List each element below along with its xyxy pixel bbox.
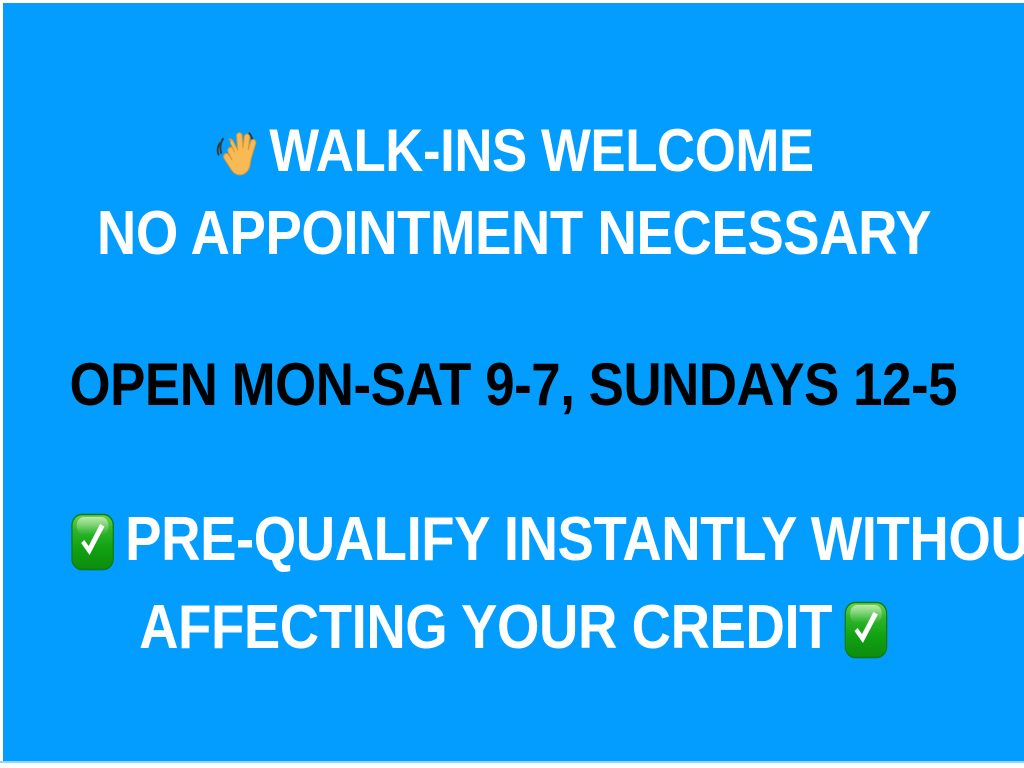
line-prequalify: PRE-QUALIFY INSTANTLY WITHOUT (3, 509, 1024, 573)
line-hours-label: OPEN MON-SAT 9-7, SUNDAYS 12-5 (70, 351, 958, 418)
line-credit-inner: AFFECTING YOUR CREDIT (139, 597, 888, 661)
line-walk-ins-inner: WALK-INS WELCOME (213, 121, 814, 182)
line-walk-ins-label: WALK-INS WELCOME (269, 117, 813, 184)
line-no-appointment-label: NO APPOINTMENT NECESSARY (96, 199, 930, 268)
sign-canvas: WALK-INS WELCOME NO APPOINTMENT NECESSAR… (0, 0, 1024, 768)
line-credit-label: AFFECTING YOUR CREDIT (139, 593, 832, 662)
line-walk-ins: WALK-INS WELCOME (3, 121, 1024, 182)
sign-text-block: WALK-INS WELCOME NO APPOINTMENT NECESSAR… (3, 3, 1024, 761)
line-hours-inner: OPEN MON-SAT 9-7, SUNDAYS 12-5 (70, 355, 958, 415)
line-credit: AFFECTING YOUR CREDIT (3, 597, 1024, 661)
line-no-appointment-inner: NO APPOINTMENT NECESSARY (96, 203, 930, 265)
waving-hand-icon (213, 125, 261, 179)
sign-bottom-edge (0, 761, 1024, 768)
check-mark-button-icon (844, 601, 888, 659)
line-no-appointment: NO APPOINTMENT NECESSARY (3, 203, 1024, 265)
line-prequalify-label: PRE-QUALIFY INSTANTLY WITHOUT (125, 505, 1024, 574)
line-hours: OPEN MON-SAT 9-7, SUNDAYS 12-5 (3, 355, 1024, 415)
sign-bottom-edge-tint (0, 761, 1024, 763)
line-prequalify-inner: PRE-QUALIFY INSTANTLY WITHOUT (71, 509, 1024, 573)
sign-panel: WALK-INS WELCOME NO APPOINTMENT NECESSAR… (3, 3, 1024, 761)
check-mark-button-icon (71, 513, 115, 571)
